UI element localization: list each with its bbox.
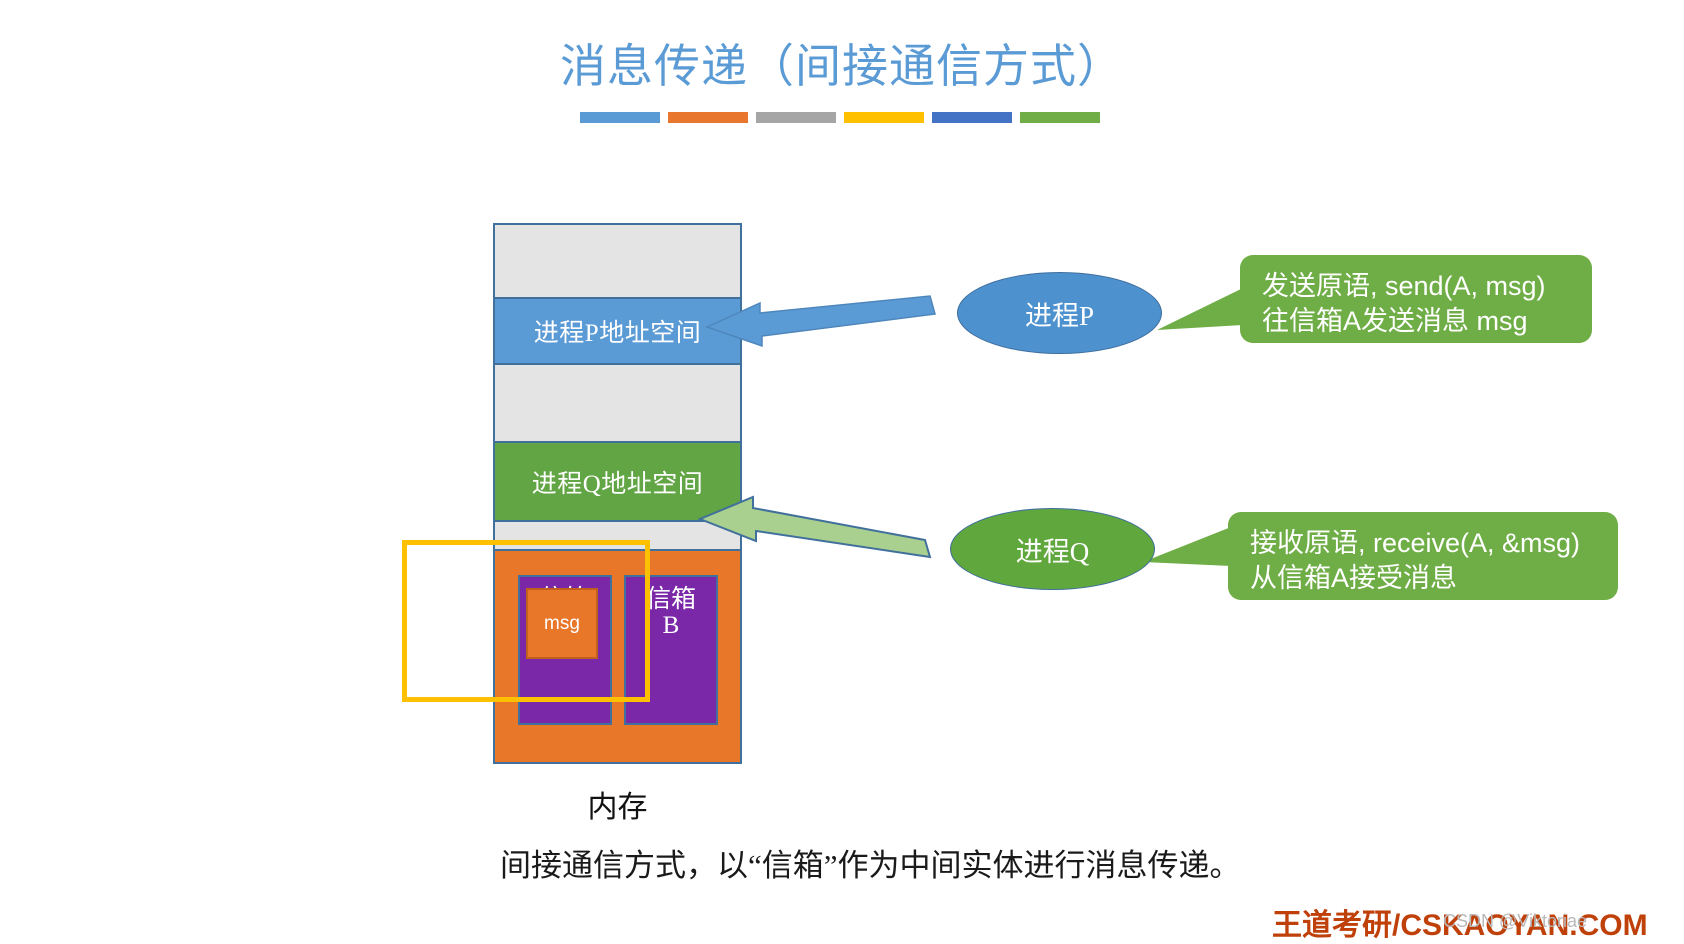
- underline-bar-6: [1020, 112, 1100, 123]
- memory-caption: 内存: [493, 782, 742, 826]
- slide-caption: 间接通信方式，以“信箱”作为中间实体进行消息传递。: [500, 840, 1241, 885]
- send-callout-line2: 往信箱A发送消息 msg: [1262, 304, 1574, 339]
- process-p-label: 进程P: [1025, 294, 1094, 333]
- csdn-watermark: CSDN @Viktoriae: [1443, 911, 1587, 932]
- memory-band-free-middle: [495, 365, 740, 441]
- send-callout: 发送原语, send(A, msg) 往信箱A发送消息 msg: [1240, 255, 1592, 343]
- receive-callout-line1: 接收原语, receive(A, &msg): [1250, 526, 1600, 561]
- memory-band-process-p: 进程P地址空间: [495, 297, 740, 365]
- mailbox-b-label-line1: 信箱: [646, 587, 696, 613]
- memory-band-free-top: [495, 225, 740, 297]
- receive-callout-tail: [1143, 527, 1231, 566]
- mailbox-b-label-line2: B: [663, 613, 680, 639]
- underline-bar-2: [668, 112, 748, 123]
- underline-bar-1: [580, 112, 660, 123]
- send-callout-line1: 发送原语, send(A, msg): [1262, 269, 1574, 304]
- memory-band-process-p-label: 进程P地址空间: [534, 313, 701, 349]
- process-p-node: 进程P: [957, 272, 1162, 354]
- underline-bar-5: [932, 112, 1012, 123]
- receive-callout: 接收原语, receive(A, &msg) 从信箱A接受消息: [1228, 512, 1618, 600]
- process-q-label: 进程Q: [1016, 530, 1090, 569]
- receive-callout-line2: 从信箱A接受消息: [1250, 561, 1600, 596]
- send-callout-tail: [1157, 288, 1243, 330]
- page-title: 消息传递（间接通信方式）: [0, 30, 1684, 96]
- memory-band-process-q-label: 进程Q地址空间: [532, 464, 704, 500]
- underline-bar-4: [844, 112, 924, 123]
- highlight-rectangle: [402, 540, 650, 702]
- title-underline-bars: [580, 112, 1100, 123]
- arrow-layer: [0, 0, 1684, 942]
- underline-bar-3: [756, 112, 836, 123]
- memory-band-process-q: 进程Q地址空间: [495, 441, 740, 522]
- process-q-node: 进程Q: [950, 508, 1155, 590]
